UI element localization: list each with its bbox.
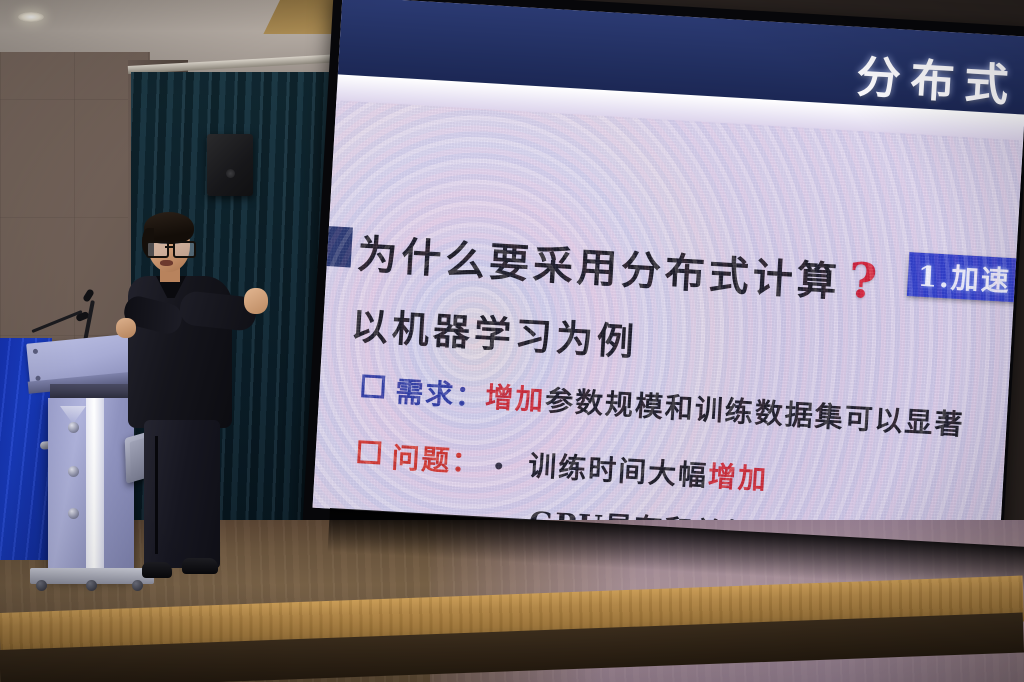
slide-title: 分布式 <box>855 41 1020 114</box>
presenter-mouth <box>160 260 173 266</box>
eyeglass-bridge <box>165 246 173 248</box>
presenter-shoe-right <box>182 558 218 574</box>
presenter <box>118 206 248 586</box>
caster-wheel-icon <box>36 580 47 591</box>
bullet-need-segment-highlight: 增加 <box>484 381 546 417</box>
bullet-problem-segment-body: 训练时间大幅 <box>527 449 709 492</box>
podium-knob-icon <box>68 508 79 519</box>
loudspeaker-box <box>207 134 253 196</box>
podium-highlight-stripe <box>86 398 104 578</box>
eyeglass-lens-left <box>146 241 169 258</box>
checkbox-square-red-icon <box>357 440 381 464</box>
presenter-shoe-left <box>142 562 172 578</box>
bullet-dot-icon <box>495 462 502 469</box>
slide-surface: 分布式 为什么要采用分布式计算? 以机器学习为例 需求：增加参数规模和训练数据集… <box>312 0 1024 548</box>
lecture-hall-photograph: 分布式 为什么要采用分布式计算? 以机器学习为例 需求：增加参数规模和训练数据集… <box>0 0 1024 682</box>
eyeglass-lens-right <box>173 241 196 258</box>
speaker-cone-icon <box>226 169 235 178</box>
podium-knob-icon <box>68 466 79 477</box>
slide-bullet-problem: 问题：训练时间大幅增加 <box>357 434 770 498</box>
eyeglasses-icon <box>146 241 192 254</box>
led-display-screen: 分布式 为什么要采用分布式计算? 以机器学习为例 需求：增加参数规模和训练数据集… <box>302 0 1024 566</box>
slide-bullet-need: 需求：增加参数规模和训练数据集可以显著 <box>360 368 965 443</box>
presenter-leg-separation <box>155 436 158 554</box>
slide-left-accent-tab <box>325 226 353 267</box>
slide-body: 为什么要采用分布式计算? 以机器学习为例 需求：增加参数规模和训练数据集可以显著… <box>312 100 1023 548</box>
slide-section-badge: 1.加速 <box>907 252 1023 303</box>
bullet-problem-segment-highlight: 增加 <box>707 460 769 496</box>
caster-wheel-icon <box>86 580 97 591</box>
bullet-problem-label: 问题： <box>391 441 483 479</box>
presenter-hand-left <box>116 318 136 338</box>
podium-fastener <box>33 349 38 354</box>
podium-knob-icon <box>68 422 79 433</box>
slide-headline-question-mark: ? <box>847 253 882 311</box>
slide-section-badge-label: 1.加速 <box>917 255 1012 300</box>
presenter-hand-right <box>244 288 268 314</box>
slide-subhead: 以机器学习为例 <box>350 296 640 367</box>
bullet-need-segment-body: 参数规模和训练数据集可以显著 <box>544 384 965 441</box>
slide-headline: 为什么要采用分布式计算? <box>356 222 883 311</box>
slide-headline-text: 为什么要采用分布式计算 <box>356 231 842 306</box>
recessed-light-icon <box>18 12 44 22</box>
checkbox-square-blue-icon <box>361 374 385 398</box>
bullet-need-label: 需求： <box>394 375 486 413</box>
microphone-gooseneck-left <box>31 310 82 333</box>
